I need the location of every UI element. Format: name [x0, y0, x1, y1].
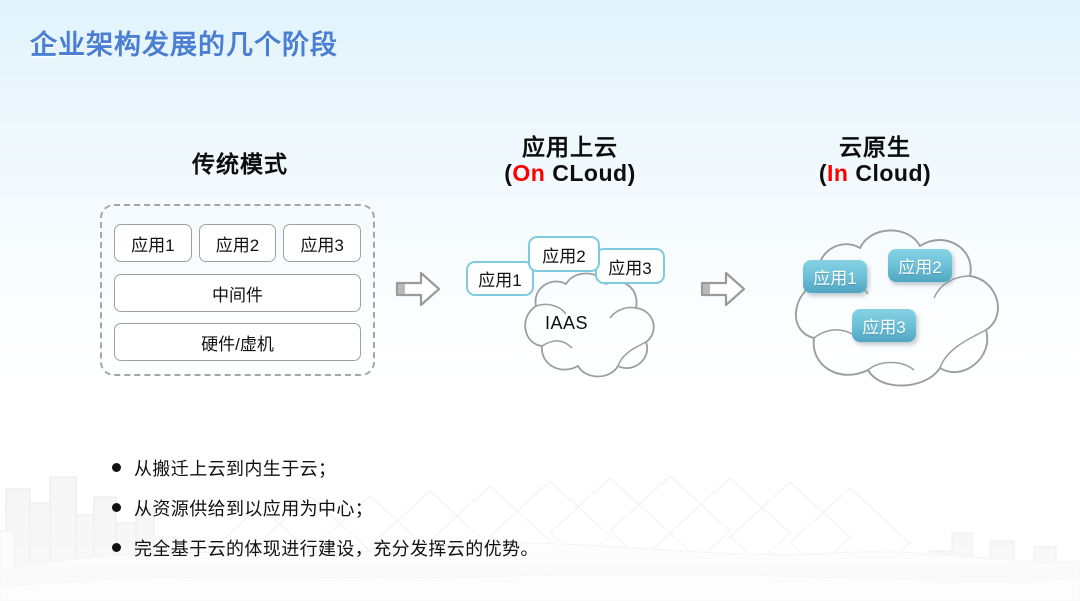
column-heading-cloudnative-en: (In Cloud) [745, 161, 1005, 187]
bullet-dot-icon [112, 463, 121, 472]
cloudnative-highlight-word: In [827, 160, 848, 186]
oncloud-app-1[interactable]: 应用1 [466, 261, 534, 296]
bullet-dot-icon [112, 543, 121, 552]
column-heading-traditional-cn: 传统模式 [110, 152, 370, 178]
bullet-dot-icon [112, 503, 121, 512]
column-heading-traditional: 传统模式 [110, 152, 370, 178]
traditional-app-3[interactable]: 应用3 [283, 224, 361, 262]
cloudnative-paren-open: ( [819, 160, 827, 186]
bullet-list: 从搬迁上云到内生于云； 从资源供给到以应用为中心； 完全基于云的体现进行建设，充… [112, 455, 732, 575]
column-heading-oncloud-cn: 应用上云 [440, 135, 700, 161]
iaas-cloud-label: IAAS [545, 313, 588, 334]
traditional-hardware-layer[interactable]: 硬件/虚机 [114, 323, 361, 361]
traditional-app-1[interactable]: 应用1 [114, 224, 192, 262]
arrow-right-icon [395, 270, 441, 308]
traditional-app-2[interactable]: 应用2 [199, 224, 277, 262]
cloudnative-rest-word: Cloud) [848, 160, 931, 186]
bullet-text-2: 从资源供给到以应用为中心； [134, 495, 373, 521]
bullet-text-3: 完全基于云的体现进行建设，充分发挥云的优势。 [134, 535, 539, 561]
cloudnative-app-2[interactable]: 应用2 [888, 249, 952, 282]
list-item: 完全基于云的体现进行建设，充分发挥云的优势。 [112, 535, 732, 561]
oncloud-app-2[interactable]: 应用2 [528, 236, 600, 272]
traditional-middleware-layer[interactable]: 中间件 [114, 274, 361, 312]
traditional-architecture-container: 应用1 应用2 应用3 中间件 硬件/虚机 [100, 204, 375, 376]
cloudnative-cloud-shape [768, 218, 1023, 393]
page-title: 企业架构发展的几个阶段 [30, 23, 338, 62]
traditional-app-row: 应用1 应用2 应用3 [114, 224, 361, 262]
slide-canvas: 企业架构发展的几个阶段 传统模式 应用1 应用2 应用3 中间件 硬件/虚机 应… [0, 0, 1080, 601]
column-heading-cloudnative-cn: 云原生 [745, 135, 1005, 161]
column-heading-oncloud-en: (On CLoud) [440, 161, 700, 187]
column-heading-cloudnative: 云原生 (In Cloud) [745, 135, 1005, 187]
bullet-text-1: 从搬迁上云到内生于云； [134, 455, 336, 481]
cloudnative-app-1[interactable]: 应用1 [803, 260, 867, 293]
column-heading-oncloud: 应用上云 (On CLoud) [440, 135, 700, 187]
oncloud-rest-word: CLoud) [545, 160, 635, 186]
cloudnative-app-3[interactable]: 应用3 [852, 309, 916, 342]
list-item: 从资源供给到以应用为中心； [112, 495, 732, 521]
list-item: 从搬迁上云到内生于云； [112, 455, 732, 481]
oncloud-app-3[interactable]: 应用3 [595, 248, 665, 284]
arrow-right-icon [700, 270, 746, 308]
oncloud-highlight-word: On [512, 160, 545, 186]
